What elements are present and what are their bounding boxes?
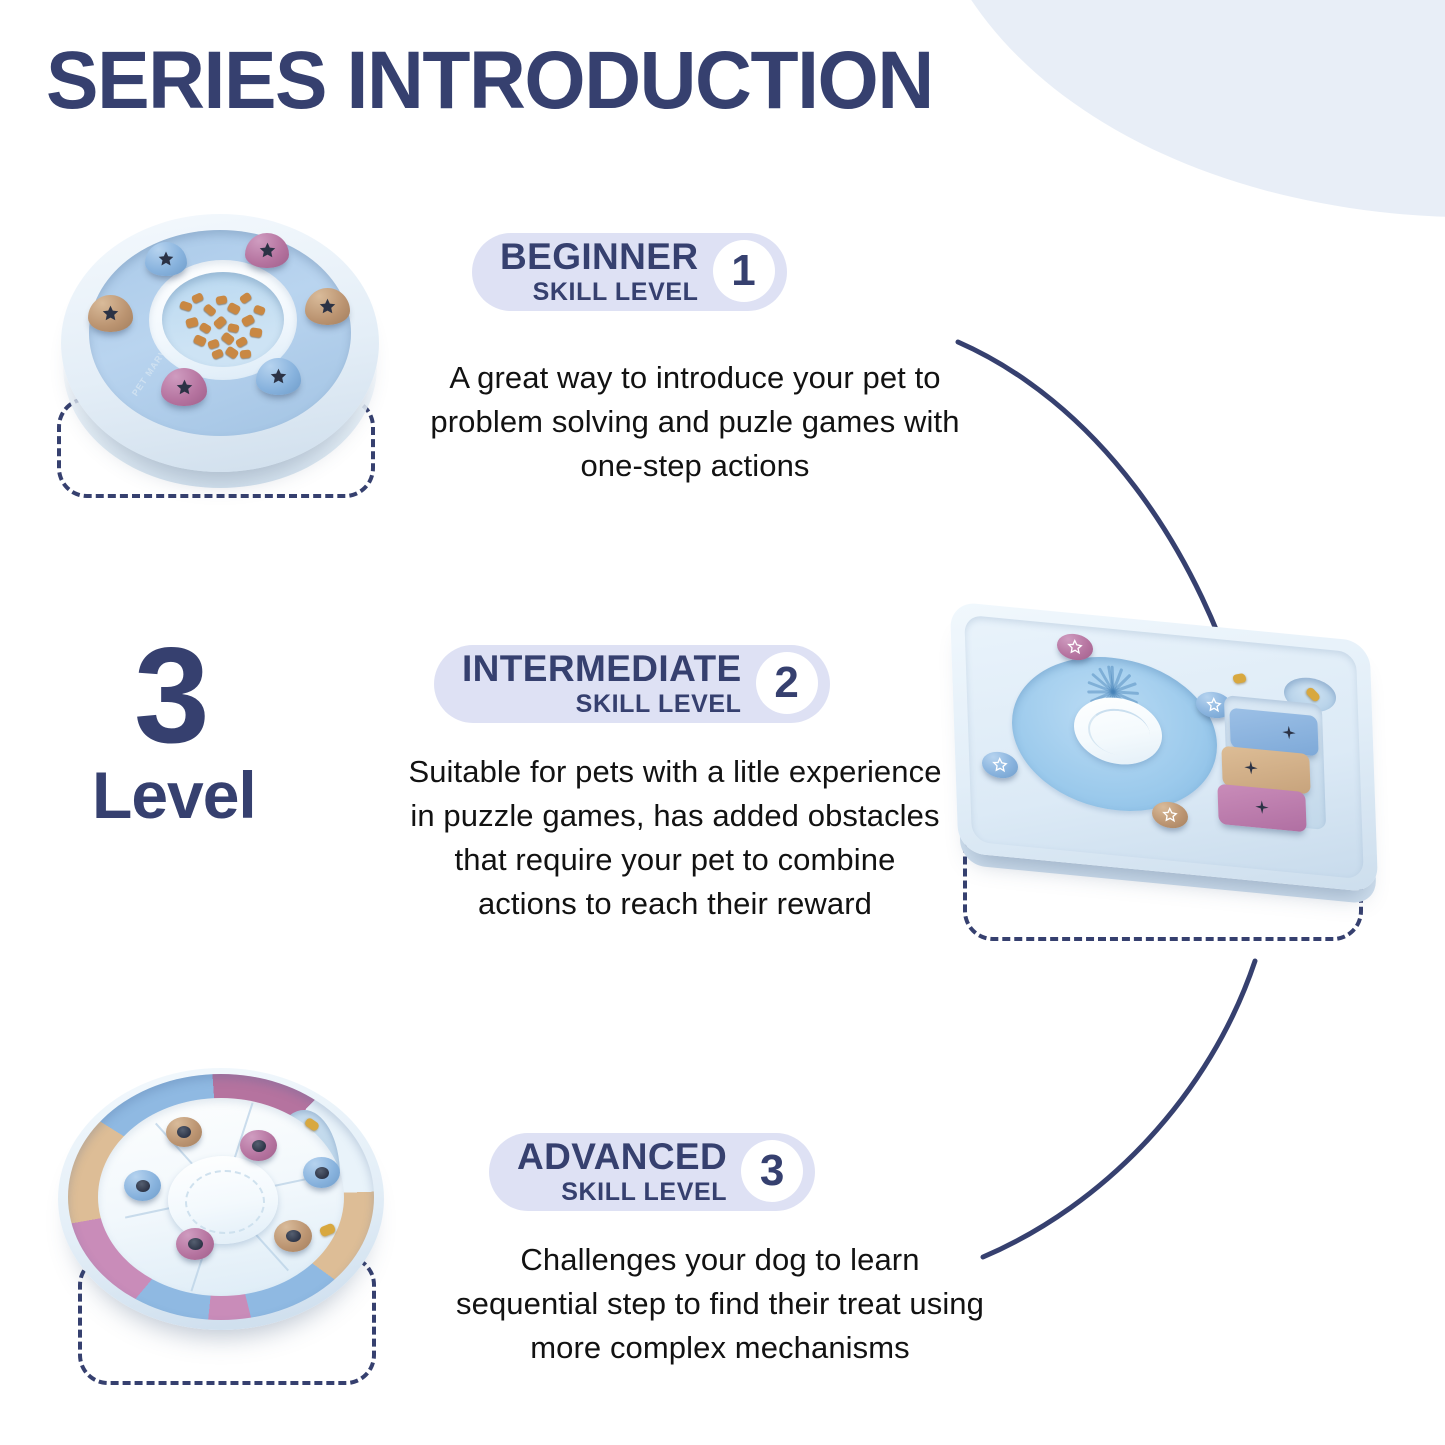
star-icon [1241, 758, 1262, 780]
description-advanced: Challenges your dog to learn sequential … [450, 1238, 990, 1370]
page-title: SERIES INTRODUCTION [46, 34, 933, 128]
disc-knob-tan-bottom[interactable] [274, 1220, 312, 1252]
skill-badge-beginner-number: 1 [713, 240, 775, 302]
skill-badge-beginner[interactable]: BEGINNER SKILL LEVEL 1 [472, 233, 787, 311]
curved-connector-bottom [955, 955, 1285, 1275]
skill-badge-intermediate-number: 2 [756, 652, 818, 714]
description-beginner: A great way to introduce your pet to pro… [425, 356, 965, 488]
skill-badge-advanced-title: ADVANCED [517, 1138, 727, 1175]
skill-badge-advanced-subtitle: SKILL LEVEL [561, 1180, 727, 1205]
skill-badge-intermediate-title: INTERMEDIATE [462, 650, 742, 687]
description-intermediate: Suitable for pets with a litle experienc… [405, 750, 945, 926]
disc-knob-pink-bottom[interactable] [176, 1228, 214, 1260]
star-icon [101, 304, 120, 323]
level-count-word: Level [92, 762, 256, 828]
product-image-intermediate-tray [940, 612, 1410, 952]
star-icon [1252, 797, 1273, 819]
background-blob-shape-secondary [1125, 0, 1445, 200]
star-icon [1279, 722, 1300, 744]
star-icon [1067, 638, 1084, 656]
skill-badge-advanced-texts: ADVANCED SKILL LEVEL [517, 1138, 727, 1205]
star-icon [175, 378, 194, 397]
skill-badge-advanced-number: 3 [741, 1140, 803, 1202]
disc-knob-tan-top[interactable] [166, 1117, 202, 1147]
star-icon [157, 250, 175, 268]
skill-badge-beginner-subtitle: SKILL LEVEL [533, 280, 699, 305]
star-icon [1162, 806, 1179, 824]
product-image-advanced-disc [50, 1062, 400, 1362]
skill-badge-intermediate-texts: INTERMEDIATE SKILL LEVEL [462, 650, 742, 717]
disc-knob-blue-left[interactable] [124, 1170, 161, 1201]
star-icon [258, 241, 277, 260]
disc-knob-pink-top[interactable] [240, 1130, 277, 1161]
bowl-kibble-well [162, 272, 284, 367]
tray-slider-block-pink[interactable] [1217, 784, 1306, 833]
star-icon [992, 756, 1009, 774]
disc-knob-blue-right[interactable] [303, 1157, 340, 1188]
product-image-beginner-bowl: PET MARVEL [55, 200, 385, 500]
star-icon [269, 367, 288, 386]
star-icon [1206, 696, 1223, 714]
skill-badge-beginner-texts: BEGINNER SKILL LEVEL [500, 238, 699, 305]
bowl-star-knob-blue-top[interactable] [145, 242, 187, 276]
skill-badge-beginner-title: BEGINNER [500, 238, 699, 275]
level-count-number: 3 [134, 640, 256, 752]
level-count-block: 3 Level [92, 640, 256, 828]
skill-badge-intermediate[interactable]: INTERMEDIATE SKILL LEVEL 2 [434, 645, 830, 723]
bowl-star-knob-pink-top[interactable] [245, 233, 289, 268]
star-icon [318, 297, 337, 316]
skill-badge-advanced[interactable]: ADVANCED SKILL LEVEL 3 [489, 1133, 815, 1211]
infographic-page: SERIES INTRODUCTION 3 Level BEGINNER SKI… [0, 0, 1445, 1445]
skill-badge-intermediate-subtitle: SKILL LEVEL [576, 692, 742, 717]
